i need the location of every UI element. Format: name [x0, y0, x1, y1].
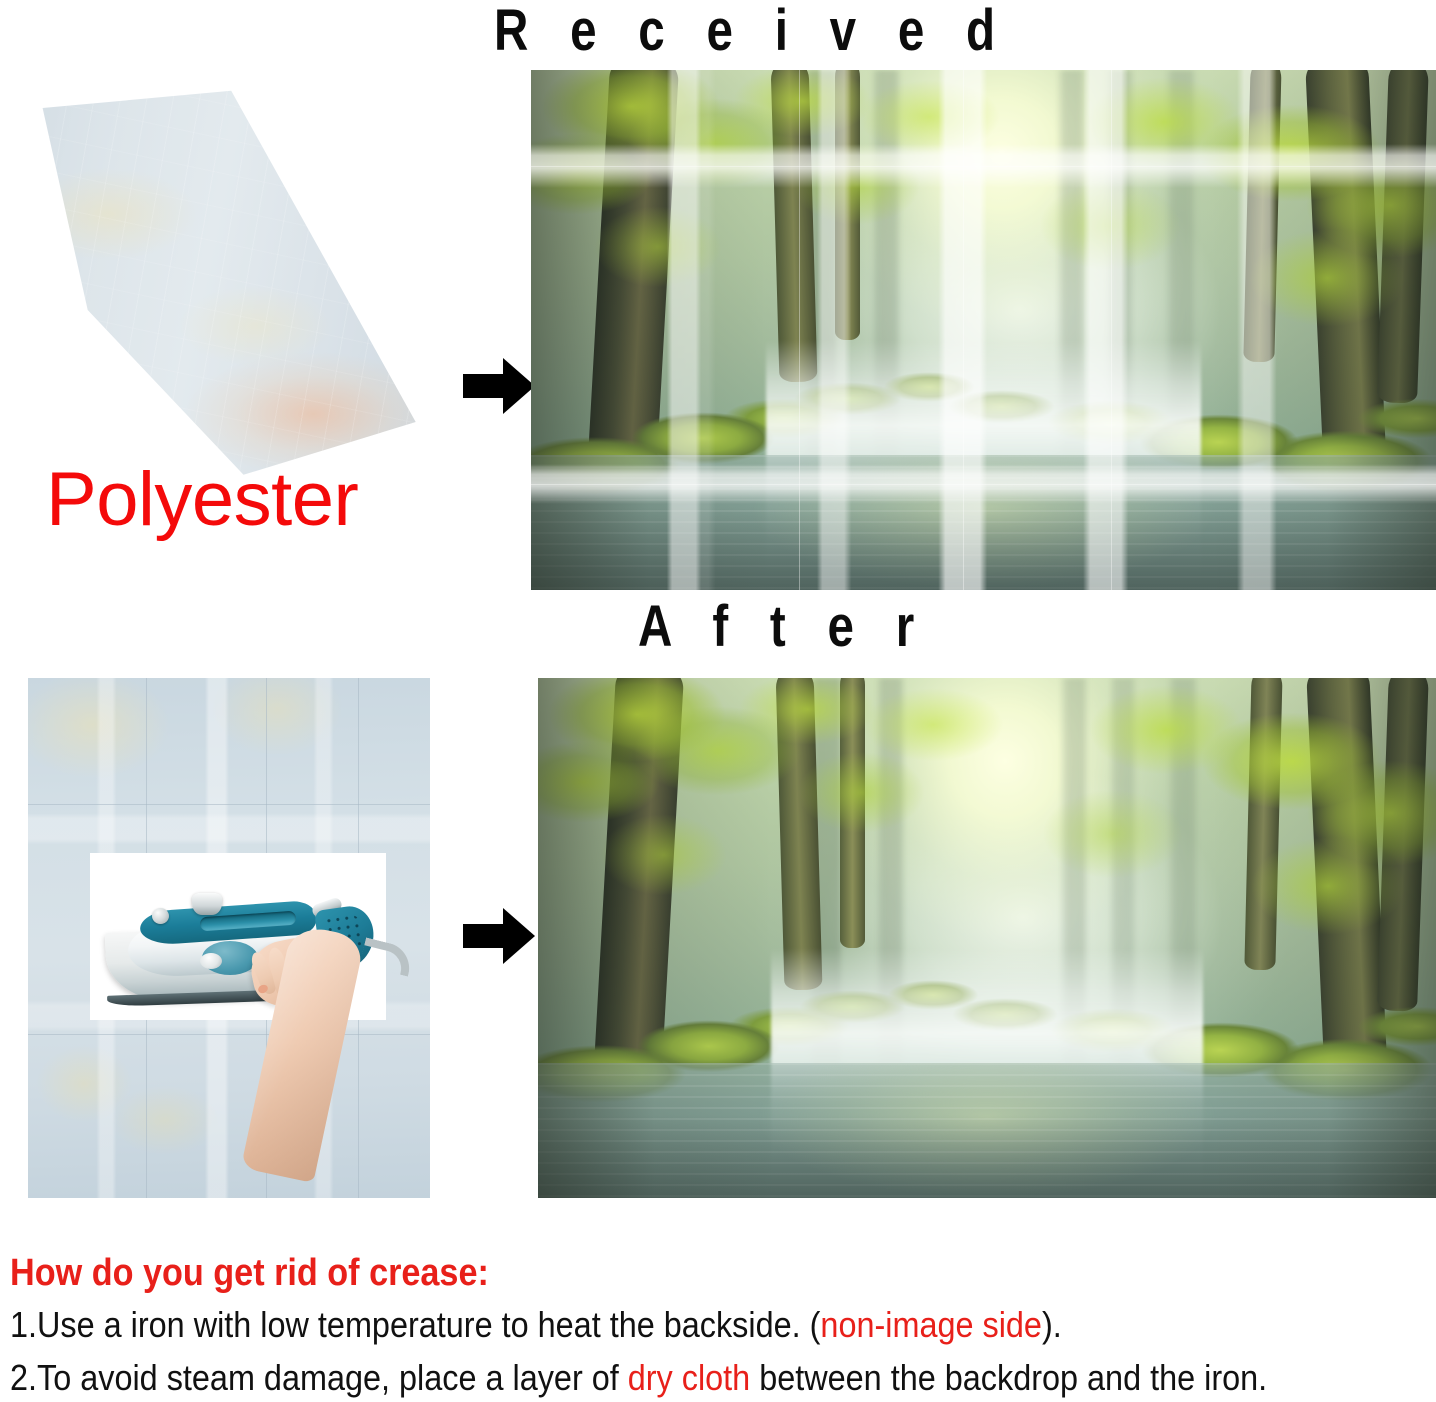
- instruction-1-prefix: 1.Use a iron with low temperature to hea…: [10, 1304, 820, 1345]
- arrow-head: [503, 908, 535, 964]
- received-heading: R e c e i v e d: [494, 2, 1009, 60]
- edge-vignette: [531, 70, 1436, 590]
- instruction-1-highlight: non-image side: [820, 1304, 1042, 1345]
- instruction-2-prefix: 2.To avoid steam damage, place a layer o…: [10, 1357, 628, 1398]
- after-backdrop-photo: [538, 678, 1436, 1198]
- instruction-2-suffix: between the backdrop and the iron.: [750, 1357, 1267, 1398]
- arrow-shaft: [463, 924, 505, 948]
- care-instructions: How do you get rid of crease: 1.Use a ir…: [10, 1254, 1430, 1400]
- ironing-demo-panel: [28, 678, 430, 1198]
- right-arrow-icon: [463, 908, 535, 964]
- infographic-page: R e c e i v e d Polyester A f t e r: [0, 0, 1436, 1402]
- right-arrow-icon: [463, 358, 535, 414]
- folded-fabric-shape: [18, 78, 428, 478]
- backside-fold-line: [28, 1034, 430, 1035]
- iron-steam-knob: [192, 893, 222, 915]
- iron-spray-button: [152, 908, 169, 924]
- edge-vignette: [538, 678, 1436, 1198]
- after-heading: A f t e r: [638, 598, 928, 656]
- instruction-2-highlight: dry cloth: [628, 1357, 750, 1398]
- instructions-heading: How do you get rid of crease:: [10, 1254, 1288, 1294]
- polyester-label: Polyester: [46, 462, 358, 538]
- polyester-swatch: [18, 78, 428, 478]
- iron-temp-dial: [200, 953, 222, 969]
- backside-fold-line: [28, 804, 430, 805]
- instruction-1-suffix: ).: [1042, 1304, 1062, 1345]
- instruction-line-2: 2.To avoid steam damage, place a layer o…: [10, 1355, 1288, 1400]
- instruction-line-1: 1.Use a iron with low temperature to hea…: [10, 1302, 1288, 1347]
- received-backdrop-photo: [531, 70, 1436, 590]
- arrow-shaft: [463, 374, 505, 398]
